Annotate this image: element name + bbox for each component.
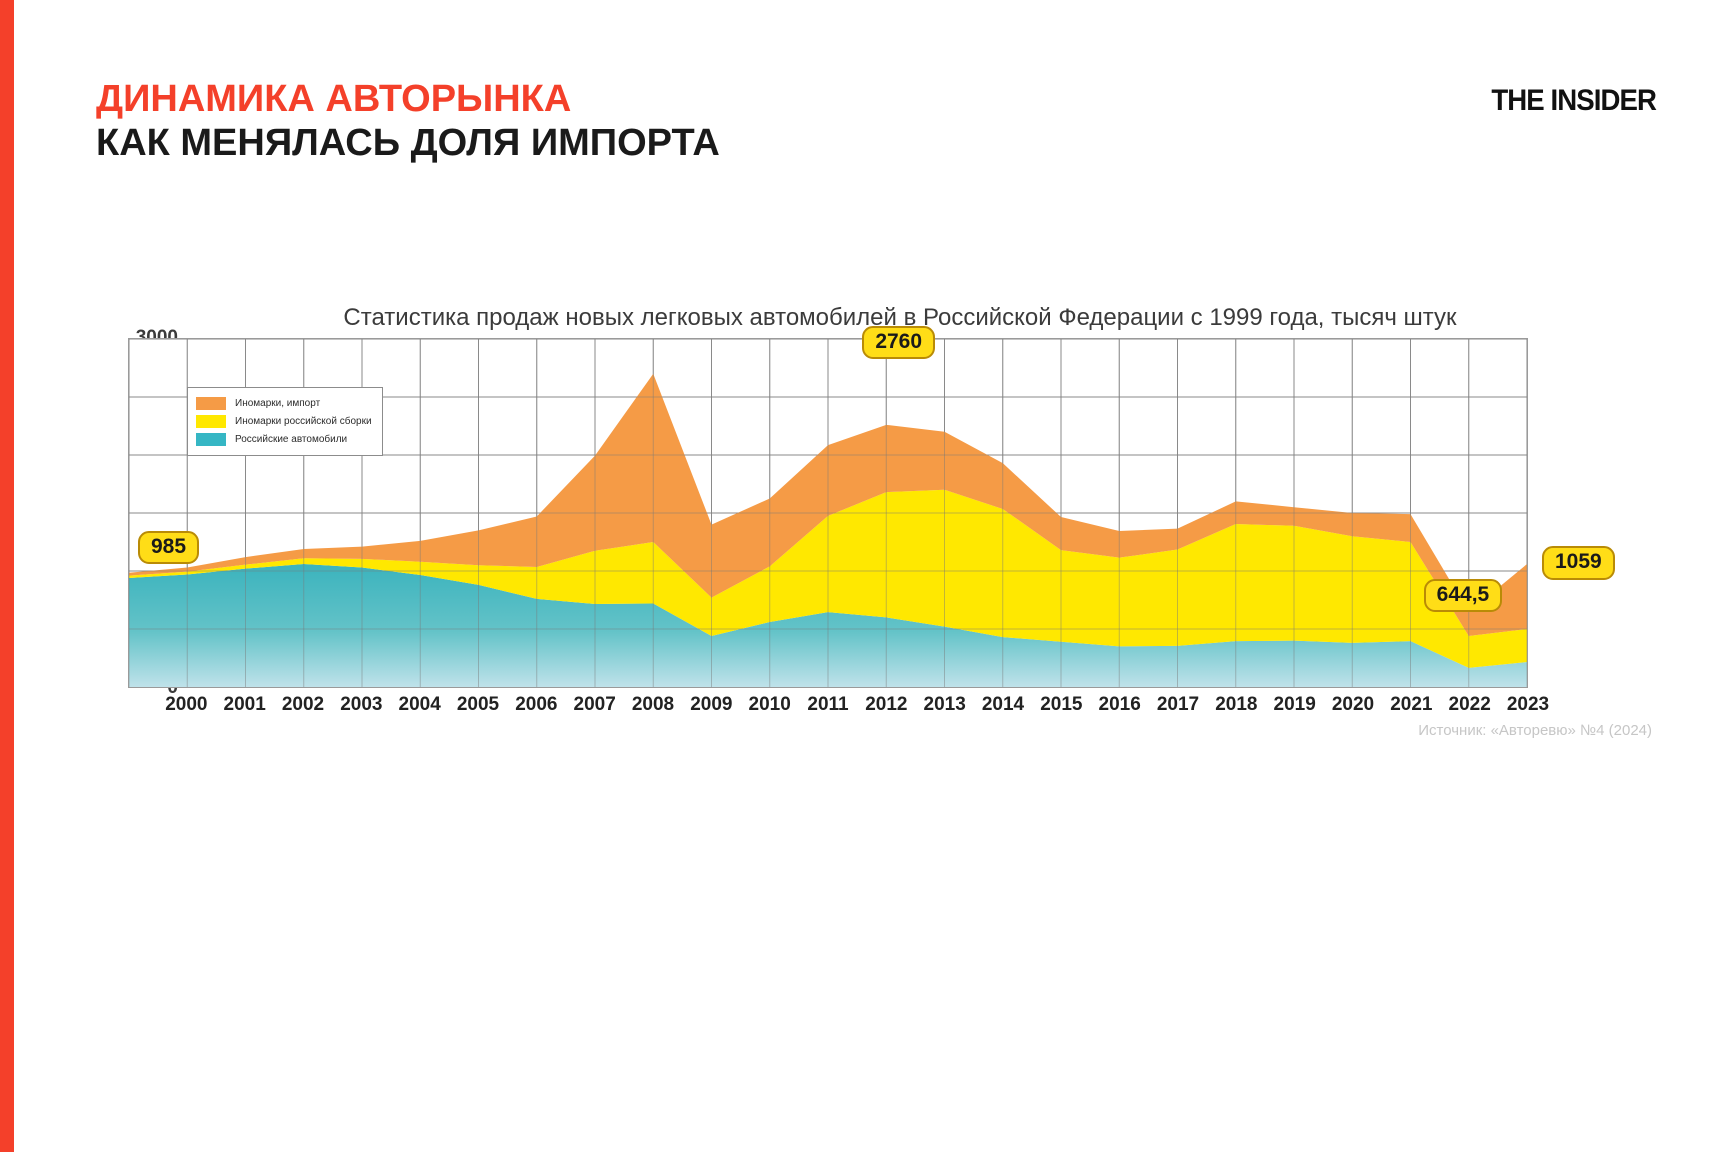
x-axis-tick: 2017: [1157, 694, 1199, 716]
x-axis-tick: 2022: [1449, 694, 1491, 716]
chart-container: Статистика продаж новых легковых автомоб…: [80, 300, 1660, 800]
slide-header: ДИНАМИКА АВТОРЫНКА КАК МЕНЯЛАСЬ ДОЛЯ ИМП…: [96, 78, 1656, 165]
page-title-primary: ДИНАМИКА АВТОРЫНКА: [96, 78, 1656, 122]
legend-swatch-icon: [196, 433, 226, 446]
page-title-secondary: КАК МЕНЯЛАСЬ ДОЛЯ ИМПОРТА: [96, 122, 1656, 166]
x-axis-tick: 2002: [282, 694, 324, 716]
brand-logo: THE INSIDER: [1491, 84, 1656, 118]
x-axis-tick: 2011: [807, 694, 848, 716]
x-axis-tick: 2000: [165, 694, 207, 716]
accent-sidebar: [0, 0, 14, 1152]
x-axis-tick: 2016: [1099, 694, 1141, 716]
chart-callout-1999: 985: [138, 531, 199, 564]
x-axis-tick: 2020: [1332, 694, 1374, 716]
x-axis-tick: 2001: [224, 694, 266, 716]
x-axis-tick: 2013: [924, 694, 966, 716]
x-axis-tick: 2019: [1274, 694, 1316, 716]
legend-label: Иномарки, импорт: [235, 398, 320, 409]
plot-area: Иномарки, импортИномарки российской сбор…: [128, 338, 1528, 688]
legend-swatch-icon: [196, 415, 226, 428]
x-axis-tick: 2003: [340, 694, 382, 716]
legend-swatch-icon: [196, 397, 226, 410]
x-axis-tick: 2004: [399, 694, 441, 716]
chart-callout-2023: 1059: [1542, 546, 1615, 579]
x-axis: 2000200120022003200420052006200720082009…: [128, 694, 1528, 724]
legend-item[interactable]: Иномарки российской сборки: [196, 413, 372, 430]
x-axis-tick: 2008: [632, 694, 674, 716]
chart-callout-2022: 644,5: [1424, 579, 1503, 612]
x-axis-tick: 2023: [1507, 694, 1549, 716]
legend-label: Российские автомобили: [235, 434, 347, 445]
chart-callout-2012: 2760: [862, 326, 935, 359]
x-axis-tick: 2009: [690, 694, 732, 716]
x-axis-tick: 2012: [865, 694, 907, 716]
legend-item[interactable]: Иномарки, импорт: [196, 395, 372, 412]
x-axis-tick: 2014: [982, 694, 1024, 716]
x-axis-tick: 2018: [1215, 694, 1257, 716]
legend-label: Иномарки российской сборки: [235, 416, 372, 427]
x-axis-tick: 2021: [1390, 694, 1432, 716]
x-axis-tick: 2015: [1040, 694, 1082, 716]
x-axis-tick: 2006: [515, 694, 557, 716]
legend: Иномарки, импортИномарки российской сбор…: [187, 387, 383, 456]
source-note: Источник: «Авторевю» №4 (2024): [1418, 722, 1652, 739]
legend-item[interactable]: Российские автомобили: [196, 431, 372, 448]
x-axis-tick: 2007: [574, 694, 616, 716]
x-axis-tick: 2005: [457, 694, 499, 716]
x-axis-tick: 2010: [749, 694, 791, 716]
